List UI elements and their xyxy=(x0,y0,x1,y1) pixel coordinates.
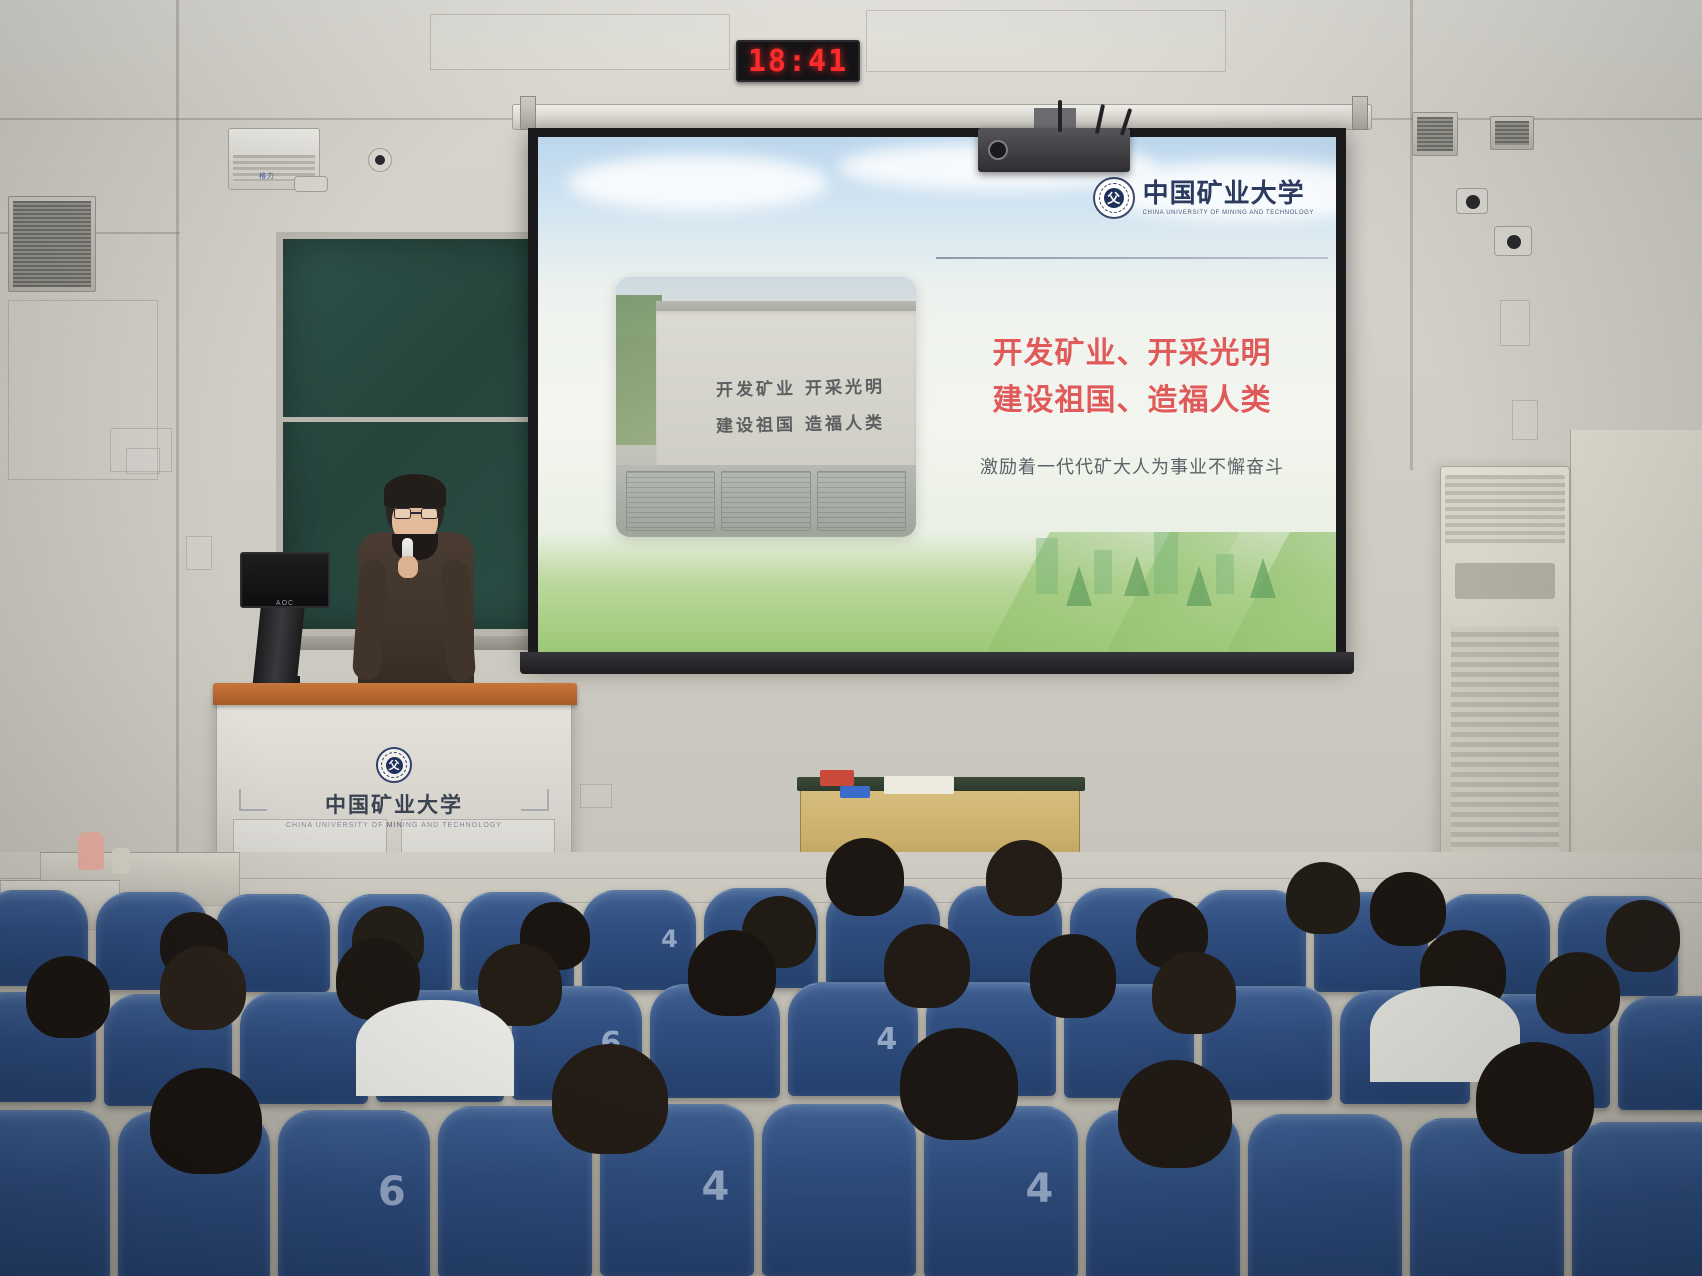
photo-caption-line2: 建设祖国 造福人类 xyxy=(716,406,916,436)
ac-cabinet-top-vent xyxy=(1445,475,1565,545)
podium-logo-cn: 中国矿业大学 xyxy=(217,789,571,819)
slide-photo: 开发矿业 开采光明 建设祖国 造福人类 xyxy=(616,277,916,537)
audience-head xyxy=(1370,872,1446,946)
slide-tree-icon xyxy=(1250,558,1276,598)
noticeboard-panel xyxy=(626,471,715,531)
audience-head xyxy=(26,956,110,1038)
screen-bracket-right xyxy=(1352,96,1368,130)
slide-rule-line xyxy=(936,257,1328,259)
ac-cabinet-control-panel[interactable] xyxy=(1455,563,1555,599)
presenter-hand xyxy=(398,556,418,578)
slide-cloud-1 xyxy=(568,155,828,211)
presenter-hair xyxy=(384,474,446,508)
projector-mount xyxy=(1034,108,1076,130)
projection-screen: 父 中国矿业大学 CHINA UNIVERSITY OF MINING AND … xyxy=(528,128,1346,664)
noticeboard-panel xyxy=(817,471,906,531)
podium-emblem-icon: 父 xyxy=(376,747,412,783)
university-emblem-icon: 父 xyxy=(1093,177,1135,219)
camera-lens-icon xyxy=(1466,195,1480,209)
audience-head xyxy=(900,1028,1018,1140)
wall-speaker-right xyxy=(1412,112,1458,156)
slide-tree-icon xyxy=(1186,566,1212,606)
wall-panel-right-1 xyxy=(1500,300,1530,346)
slide-tree-icon xyxy=(1124,556,1150,596)
ac-cabinet-grill-icon xyxy=(1451,627,1559,857)
slide-text-block: 开发矿业、开采光明 建设祖国、造福人类 激励着一代代矿大人为事业不懈奋斗 xyxy=(936,257,1328,557)
audience-head xyxy=(1152,952,1236,1034)
table-item-box-red xyxy=(820,770,854,786)
slide-building-icon xyxy=(1154,532,1178,594)
audience-head xyxy=(688,930,776,1016)
audience-head xyxy=(1606,900,1680,972)
audience-head xyxy=(1476,1042,1594,1154)
presenter-glasses-icon xyxy=(394,508,438,520)
slide-tree-icon xyxy=(1066,566,1092,606)
sensor-left xyxy=(368,148,392,172)
podium-branding: 父 中国矿业大学 CHINA UNIVERSITY OF MINING AND … xyxy=(217,747,571,829)
right-wall-column xyxy=(1570,430,1702,900)
seat[interactable] xyxy=(1618,996,1702,1110)
seat-number: 4 xyxy=(876,1022,897,1057)
floor-cone-item xyxy=(78,832,104,870)
wall-panel-right-2 xyxy=(1512,400,1538,440)
sensor-lens-icon xyxy=(375,155,385,165)
photo-noticeboards xyxy=(616,465,916,537)
screen-bracket-left xyxy=(520,96,536,130)
camera-ceiling-right xyxy=(1494,226,1532,256)
slide-headline-line2: 建设祖国、造福人类 xyxy=(936,378,1328,425)
clock-time: 18:41 xyxy=(748,44,848,79)
podium-emblem-glyph: 父 xyxy=(386,757,403,774)
glasses-bridge xyxy=(411,512,421,514)
audience-head xyxy=(1030,934,1116,1018)
audience-head xyxy=(826,838,904,916)
projection-screen-housing xyxy=(512,104,1372,130)
projector-lens-icon xyxy=(988,140,1008,160)
audience-head xyxy=(160,946,246,1030)
slide-logo: 父 中国矿业大学 CHINA UNIVERSITY OF MINING AND … xyxy=(1093,177,1314,219)
photo-caption-line1: 开发矿业 开采光明 xyxy=(716,370,916,400)
wall-clock: 18:41 xyxy=(736,40,860,82)
slide-building-icon xyxy=(1094,550,1112,594)
table-item-paper xyxy=(884,776,954,794)
presenter-collar xyxy=(392,534,438,560)
seat[interactable]: 4 xyxy=(582,890,696,990)
floor-air-conditioner xyxy=(1440,466,1570,896)
audience-head xyxy=(884,924,970,1008)
smoke-detector xyxy=(294,176,328,192)
audience-head xyxy=(1286,862,1360,934)
seat-number: 4 xyxy=(661,925,678,953)
audience-head xyxy=(552,1044,668,1154)
podium-wood-top xyxy=(213,683,577,705)
wall-outlet-center[interactable] xyxy=(580,784,612,808)
audience-head xyxy=(986,840,1062,916)
audience-shoulders xyxy=(356,1000,514,1096)
wall-speaker-right-2 xyxy=(1490,116,1534,150)
audience-head xyxy=(1536,952,1620,1034)
ceiling-projector xyxy=(978,128,1130,172)
audience-head xyxy=(1118,1060,1232,1168)
monitor-brand-label: AOC xyxy=(242,600,328,607)
seat[interactable]: 6 xyxy=(278,1110,430,1276)
slide-building-icon xyxy=(1036,538,1058,594)
podium-monitor[interactable]: AOC xyxy=(240,552,330,608)
slide-headline-line1: 开发矿业、开采光明 xyxy=(936,331,1328,378)
seat-number: 6 xyxy=(378,1169,406,1215)
table-item-box-blue xyxy=(840,786,870,798)
glasses-lens-right xyxy=(421,508,438,519)
glasses-lens-left xyxy=(394,508,411,519)
wall-seam-vertical-2 xyxy=(1410,0,1413,470)
seat[interactable] xyxy=(1248,1114,1402,1276)
camera-right xyxy=(1456,188,1488,214)
seat-number: 4 xyxy=(702,1164,730,1210)
audience-head xyxy=(150,1068,262,1174)
slide-logo-cn: 中国矿业大学 xyxy=(1143,181,1314,207)
emblem-core-glyph: 父 xyxy=(1104,188,1124,208)
projector-cable xyxy=(1058,100,1062,132)
projection-screen-weight-bar xyxy=(520,652,1354,674)
ceiling-panel-left xyxy=(430,14,730,70)
speaker-grill-icon xyxy=(1417,117,1453,151)
slide-building-icon xyxy=(1216,554,1234,594)
ac-brand-label: 格力 xyxy=(259,171,275,181)
photo-wall: 开发矿业 开采光明 建设祖国 造福人类 xyxy=(656,311,916,471)
presentation-slide: 父 中国矿业大学 CHINA UNIVERSITY OF MINING AND … xyxy=(538,137,1336,652)
ceiling-panel-right xyxy=(866,10,1226,72)
wall-switch-plate[interactable] xyxy=(186,536,212,570)
slide-logo-en: CHINA UNIVERSITY OF MINING AND TECHNOLOG… xyxy=(1143,210,1314,216)
seat[interactable] xyxy=(1572,1122,1702,1276)
seat[interactable] xyxy=(0,1110,110,1276)
blackboard-divider xyxy=(283,417,567,422)
speaker-grill-icon xyxy=(1495,121,1529,145)
slide-headline: 开发矿业、开采光明 建设祖国、造福人类 xyxy=(936,331,1328,424)
seat-number: 4 xyxy=(1026,1166,1054,1212)
noticeboard-panel xyxy=(721,471,810,531)
wall-panel-outlet xyxy=(126,448,160,474)
speaker-grill-icon xyxy=(13,201,91,287)
lecture-hall-scene: 18:41 格力 父 xyxy=(0,0,1702,1276)
floor-bottle-item xyxy=(112,848,130,874)
wall-speaker-left xyxy=(8,196,96,292)
slide-subline: 激励着一代代矿大人为事业不懈奋斗 xyxy=(936,453,1328,479)
camera-lens-icon xyxy=(1507,235,1521,249)
wall-seam-vertical-1 xyxy=(176,0,179,880)
seat[interactable] xyxy=(762,1104,916,1276)
